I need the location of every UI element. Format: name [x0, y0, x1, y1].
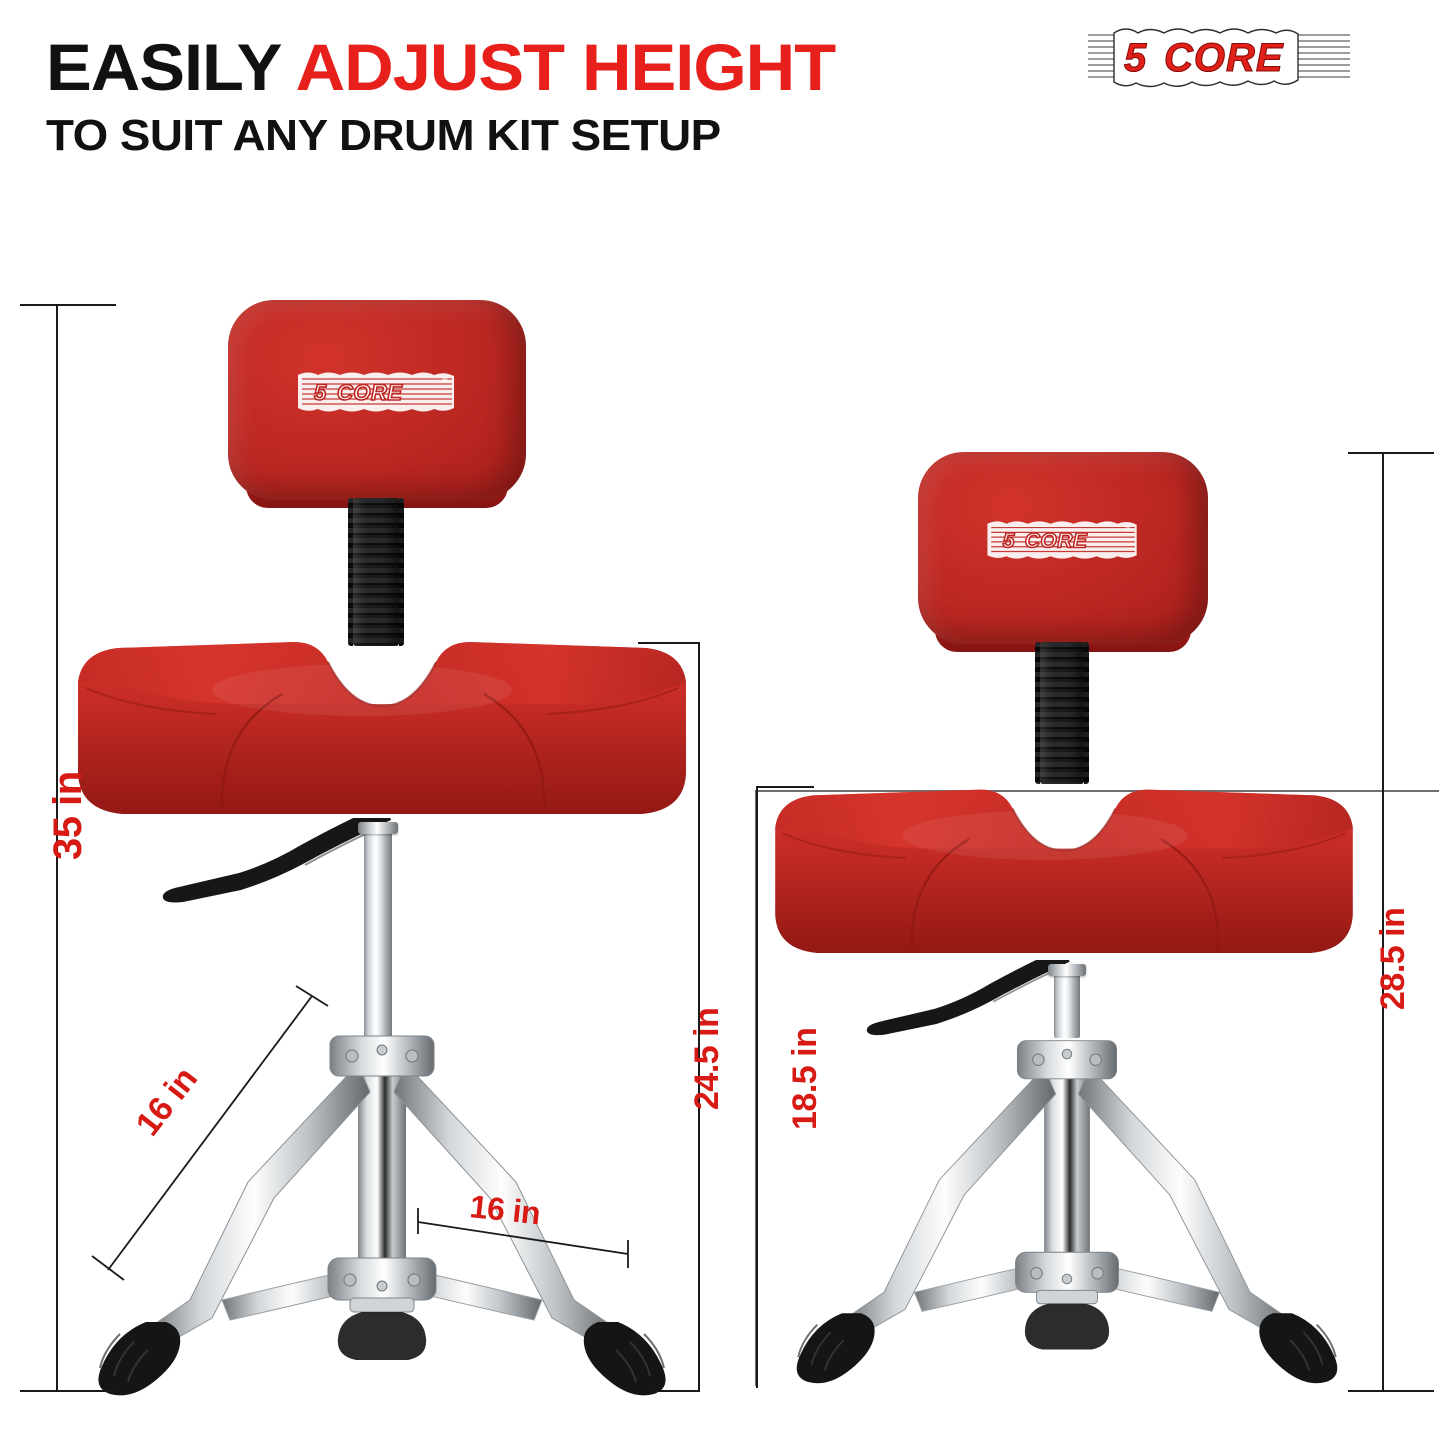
tripod-base-icon — [762, 1002, 1372, 1392]
backrest-logo: 5 CORE ® — [292, 369, 462, 415]
svg-text:CORE: CORE — [1025, 530, 1088, 553]
dim-24-5in-tick-bottom — [652, 1390, 700, 1392]
dim-leg-icon — [90, 980, 380, 1290]
backrest-logo-icon: 5 CORE ® — [292, 369, 462, 415]
backrest-raised: 5 CORE ® — [228, 300, 526, 500]
svg-text:®: ® — [442, 375, 448, 384]
backrest-logo: 5 CORE ® — [980, 518, 1146, 562]
column-collar-upper-raised — [358, 822, 398, 834]
seat-cushion-lowered — [760, 778, 1368, 978]
dim-28-5in-tick-top — [1348, 452, 1434, 454]
svg-text:5: 5 — [314, 380, 327, 405]
dim-24-5in-tick-top — [638, 642, 700, 644]
dim-28-5in-tick-bottom — [1348, 1390, 1434, 1392]
seat-shape-icon — [62, 630, 702, 840]
dim-18-5in-tick-top — [756, 786, 814, 788]
dim-label-35in: 35 in — [46, 771, 91, 860]
dim-label-28-5in: 28.5 in — [1374, 908, 1413, 1010]
backrest-logo-icon: 5 CORE ® — [980, 518, 1146, 562]
backrest-lowered: 5 CORE ® — [918, 452, 1208, 644]
dim-16in-leg-line — [90, 980, 380, 1290]
dim-35in-tick-bottom — [20, 1390, 116, 1392]
svg-text:5: 5 — [1003, 530, 1015, 553]
column-collar-upper-lowered — [1048, 964, 1086, 976]
svg-text:CORE: CORE — [337, 380, 403, 405]
dim-label-24-5in: 24.5 in — [688, 1008, 727, 1110]
seat-shape-icon — [760, 778, 1368, 978]
dim-35in-tick-top — [20, 304, 116, 306]
svg-text:®: ® — [1125, 524, 1131, 533]
backrest-post-lowered — [1040, 642, 1084, 784]
dim-label-16in-base: 16 in — [468, 1188, 542, 1232]
dim-label-18-5in: 18.5 in — [786, 1028, 825, 1130]
tripod-base-lowered — [762, 1002, 1372, 1392]
seat-cushion-raised — [62, 630, 702, 840]
backrest-post-raised — [353, 498, 399, 646]
infographic-canvas: EASILY ADJUST HEIGHT TO SUIT ANY DRUM KI… — [0, 0, 1440, 1440]
drum-throne-lowered: 5 CORE ® — [740, 0, 1440, 1440]
dim-18-5in-line — [756, 786, 758, 1388]
